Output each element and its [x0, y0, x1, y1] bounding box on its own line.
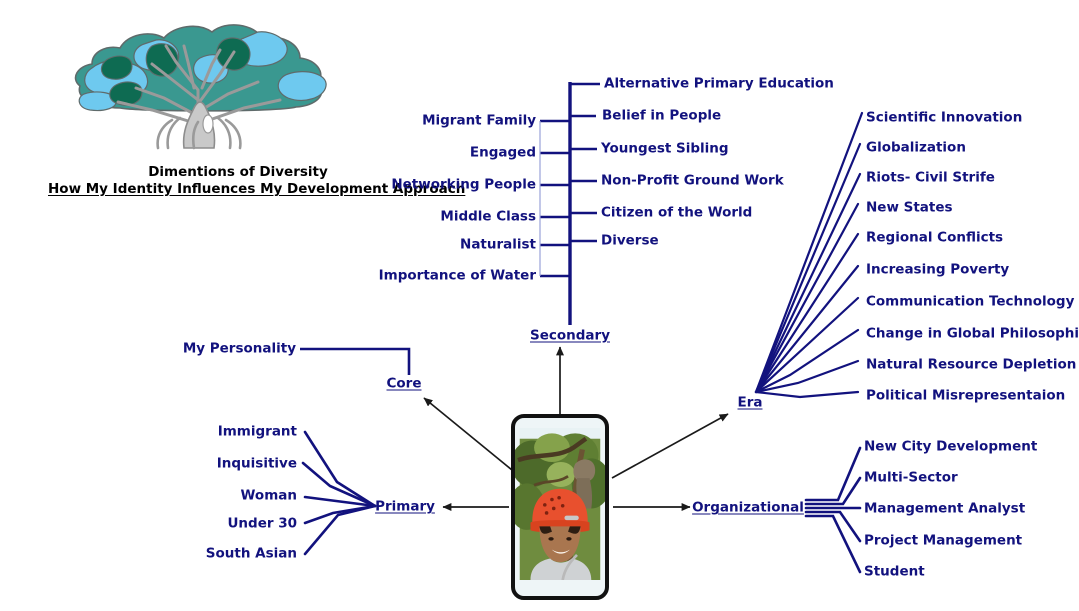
primary-item-4[interactable]: South Asian — [206, 547, 297, 562]
org-item-3[interactable]: Project Management — [864, 534, 1022, 549]
node-organizational[interactable]: Organizational — [692, 501, 804, 516]
era-item-8[interactable]: Natural Resource Depletion — [866, 358, 1076, 373]
node-primary[interactable]: Primary — [375, 500, 435, 515]
secondary-left-item-1[interactable]: Engaged — [470, 146, 536, 161]
primary-branch-lines — [303, 432, 375, 554]
secondary-left-item-2[interactable]: Networking People — [391, 178, 536, 193]
page-subtitle: How My Identity Influences My Developmen… — [48, 181, 428, 197]
org-item-1[interactable]: Multi-Sector — [864, 471, 958, 486]
secondary-branch-lines — [540, 82, 600, 325]
banyan-tree-icon — [48, 12, 348, 162]
era-item-2[interactable]: Riots- Civil Strife — [866, 171, 995, 186]
secondary-right-item-4[interactable]: Citizen of the World — [601, 206, 752, 221]
photo-image — [515, 428, 605, 580]
era-item-0[interactable]: Scientific Innovation — [866, 111, 1022, 126]
primary-item-0[interactable]: Immigrant — [218, 425, 297, 440]
core-item-0[interactable]: My Personality — [183, 342, 296, 357]
era-item-6[interactable]: Communication Technology — [866, 295, 1074, 310]
secondary-left-item-0[interactable]: Migrant Family — [422, 114, 536, 129]
era-item-5[interactable]: Increasing Poverty — [866, 263, 1009, 278]
core-branch-lines — [300, 349, 409, 375]
core-elbow — [300, 349, 409, 375]
org-item-4[interactable]: Student — [864, 565, 925, 580]
primary-item-3[interactable]: Under 30 — [227, 517, 297, 532]
secondary-left-item-3[interactable]: Middle Class — [440, 210, 536, 225]
node-era[interactable]: Era — [738, 396, 763, 411]
arrow-to-era — [612, 414, 728, 478]
secondary-right-item-5[interactable]: Diverse — [601, 234, 659, 249]
era-item-9[interactable]: Political Misrepresentaion — [866, 389, 1065, 404]
org-item-2[interactable]: Management Analyst — [864, 502, 1025, 517]
era-item-3[interactable]: New States — [866, 201, 953, 216]
era-item-7[interactable]: Change in Global Philosophies — [866, 327, 1079, 342]
secondary-right-item-3[interactable]: Non-Profit Ground Work — [601, 174, 784, 189]
era-item-4[interactable]: Regional Conflicts — [866, 231, 1003, 246]
organizational-branch-lines — [806, 448, 860, 572]
primary-spoke-4 — [305, 506, 375, 554]
arrow-to-core — [424, 398, 512, 470]
primary-item-2[interactable]: Woman — [241, 489, 297, 504]
secondary-right-item-1[interactable]: Belief in People — [602, 109, 721, 124]
primary-item-1[interactable]: Inquisitive — [217, 457, 297, 472]
node-core[interactable]: Core — [387, 377, 422, 392]
secondary-right-item-2[interactable]: Youngest Sibling — [601, 142, 729, 157]
page-title: Dimentions of Diversity — [48, 164, 428, 180]
identity-photo — [511, 414, 609, 600]
era-spoke-9 — [756, 392, 858, 397]
org-spoke-4 — [806, 516, 860, 572]
era-branch-lines — [756, 113, 862, 397]
org-item-0[interactable]: New City Development — [864, 440, 1037, 455]
era-item-1[interactable]: Globalization — [866, 141, 966, 156]
mindmap-canvas: Dimentions of Diversity How My Identity … — [0, 0, 1079, 611]
secondary-left-item-5[interactable]: Importance of Water — [379, 269, 536, 284]
primary-spoke-0 — [305, 432, 375, 506]
header-block: Dimentions of Diversity How My Identity … — [48, 12, 348, 192]
secondary-right-item-0[interactable]: Alternative Primary Education — [604, 77, 834, 92]
secondary-left-item-4[interactable]: Naturalist — [460, 238, 536, 253]
node-secondary[interactable]: Secondary — [530, 329, 610, 344]
